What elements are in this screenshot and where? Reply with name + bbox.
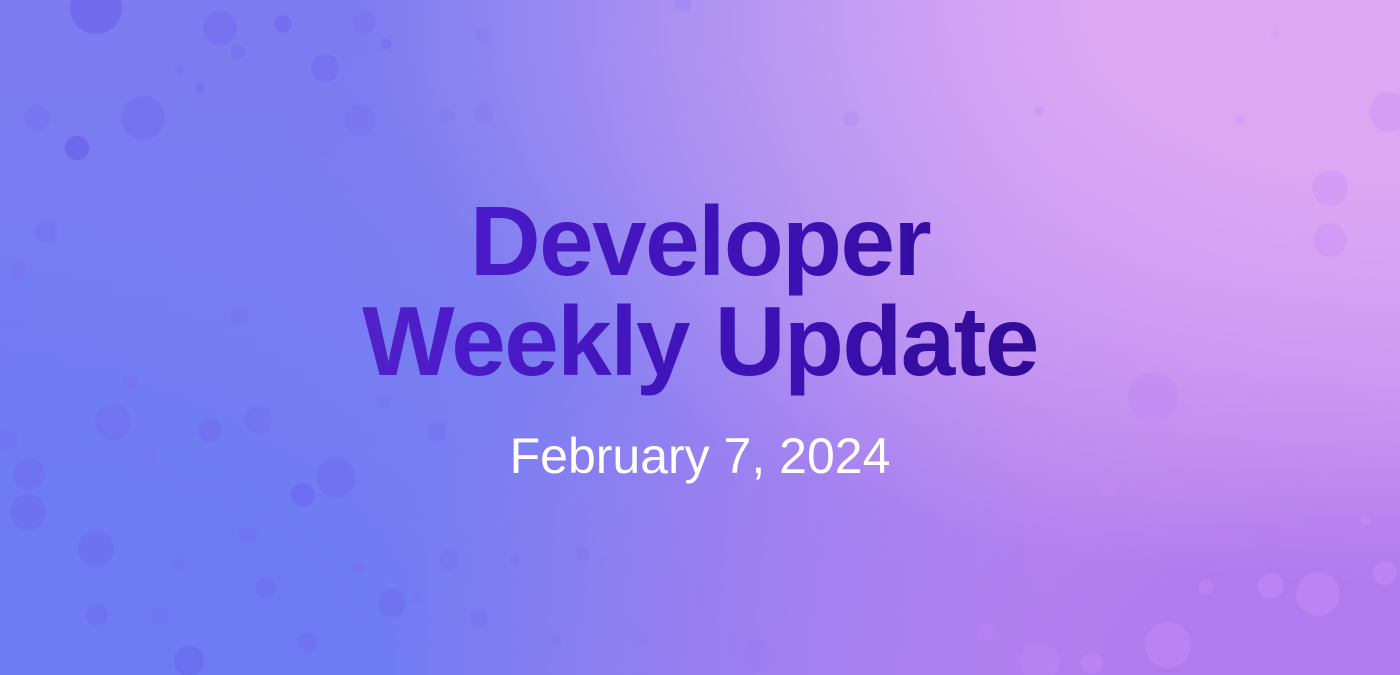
title-line-one: Developer bbox=[200, 192, 1200, 292]
banner-content: Developer Weekly Update February 7, 2024 bbox=[0, 0, 1400, 675]
issue-date: February 7, 2024 bbox=[510, 427, 891, 485]
page-title: Developer Weekly Update bbox=[200, 190, 1200, 402]
title-line-two: Weekly Update bbox=[200, 292, 1200, 392]
weekly-update-banner: Developer Weekly Update February 7, 2024 bbox=[0, 0, 1400, 675]
